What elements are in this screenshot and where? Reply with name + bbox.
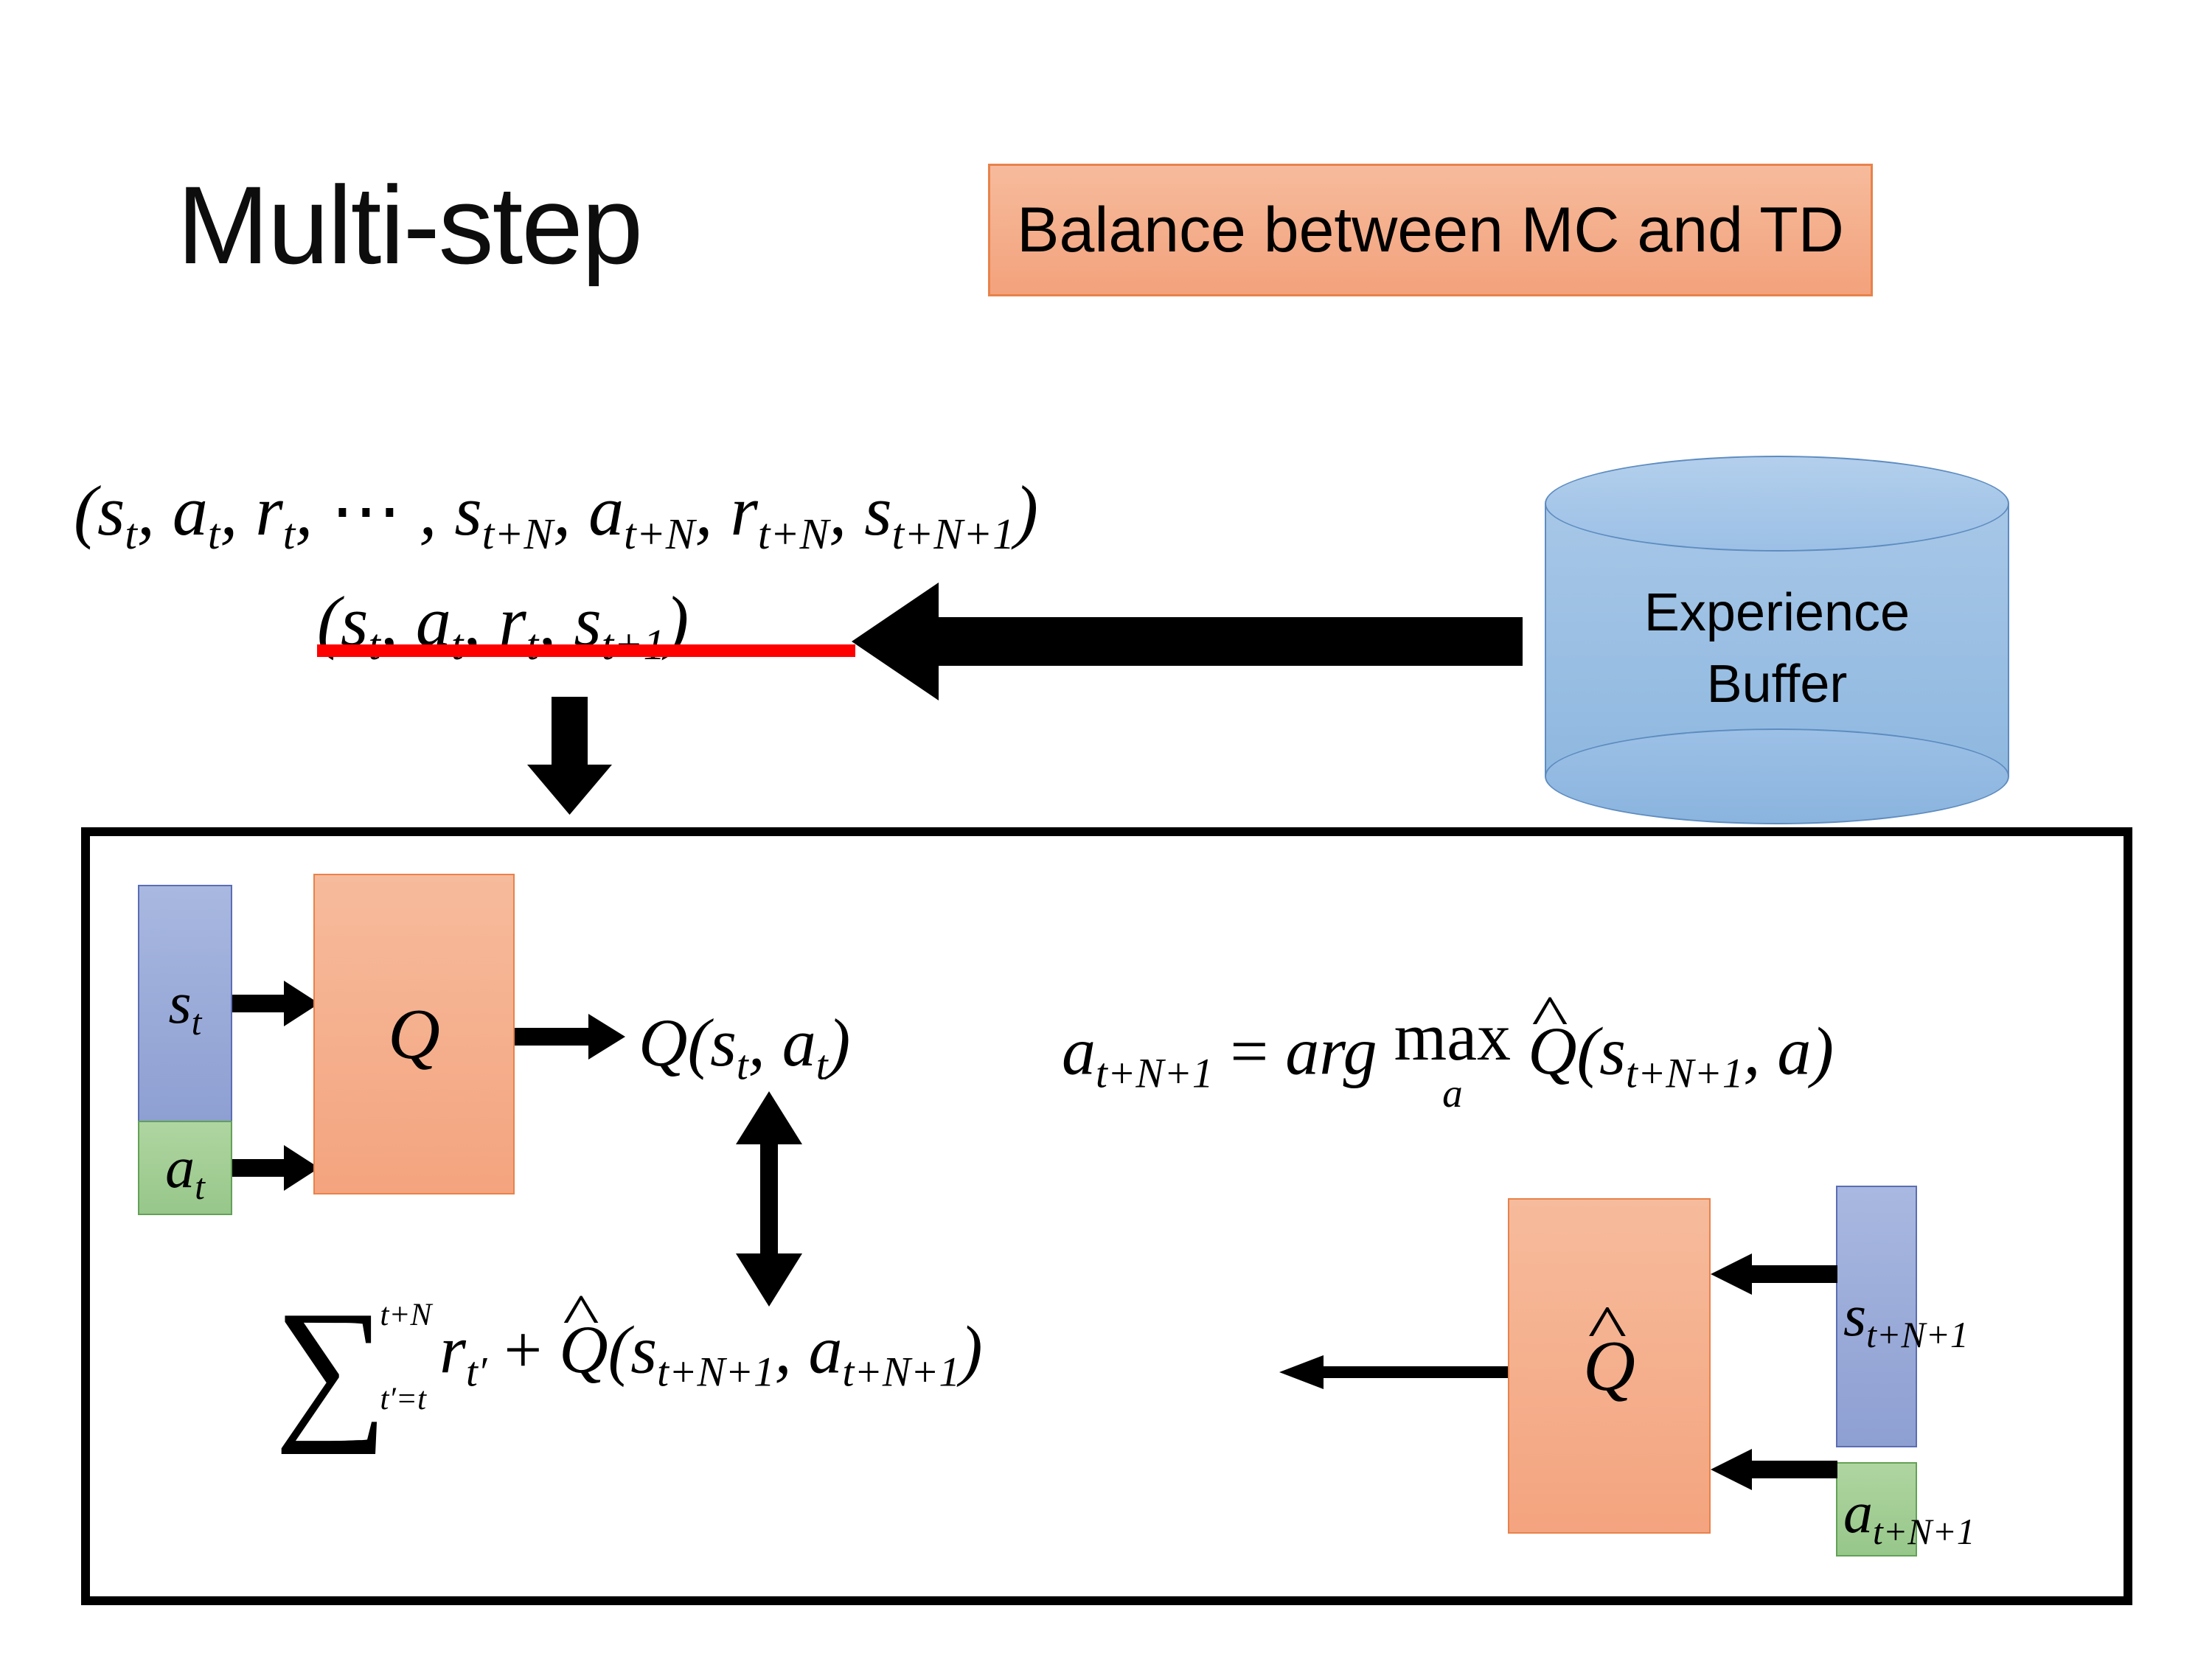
strikethrough-line	[317, 644, 855, 657]
next-action-to-qhat-arrow-icon	[1711, 1449, 1837, 1490]
next-state-to-qhat-arrow-icon	[1711, 1253, 1837, 1295]
cylinder-top-ellipse	[1545, 456, 2009, 552]
q-to-output-arrow-icon	[515, 1014, 625, 1060]
experience-buffer-line2: Buffer	[1545, 649, 2009, 720]
action-to-q-arrow-icon	[232, 1145, 319, 1191]
target-value-equation: ∑t+Nt′=trt′ + Q(st+N+1, at+N+1)	[274, 1298, 983, 1426]
state-input-block: st	[138, 885, 232, 1122]
q-network-block: Q	[313, 874, 515, 1194]
argmax-action-equation: at+N+1 = arg maxa Q(st+N+1, a)	[1062, 1003, 1834, 1114]
double-headed-vertical-arrow-icon	[736, 1091, 802, 1307]
multi-step-transition-tuple: (st, at, rt, ⋯ , st+N, at+N, rt+N, st+N+…	[74, 476, 1038, 546]
action-input-block: at	[138, 1121, 232, 1215]
callout-banner-label: Balance between MC and TD	[1017, 194, 1844, 267]
page-title: Multi-step	[177, 170, 641, 280]
state-input-label: st	[169, 970, 202, 1037]
experience-buffer-line1: Experience	[1545, 577, 2009, 649]
qhat-to-target-arrow-icon	[1279, 1355, 1512, 1389]
action-input-label: at	[165, 1135, 205, 1202]
experience-buffer-cylinder: Experience Buffer	[1545, 456, 2009, 824]
thick-down-arrow-icon	[527, 697, 612, 815]
q-value-expression: Q(st, at)	[639, 1009, 850, 1077]
callout-banner: Balance between MC and TD	[988, 164, 1873, 296]
target-q-network-block: Q	[1508, 1198, 1711, 1534]
target-q-network-label: Q	[1583, 1325, 1635, 1408]
q-network-label: Q	[388, 993, 440, 1076]
next-action-input-label: at+N+1	[1843, 1484, 1975, 1543]
state-to-q-arrow-icon	[232, 981, 319, 1026]
thick-left-arrow-icon	[852, 582, 1523, 700]
experience-buffer-label: Experience Buffer	[1545, 577, 2009, 720]
cylinder-bottom-ellipse	[1545, 728, 2009, 824]
next-state-input-label: st+N+1	[1843, 1287, 1969, 1346]
